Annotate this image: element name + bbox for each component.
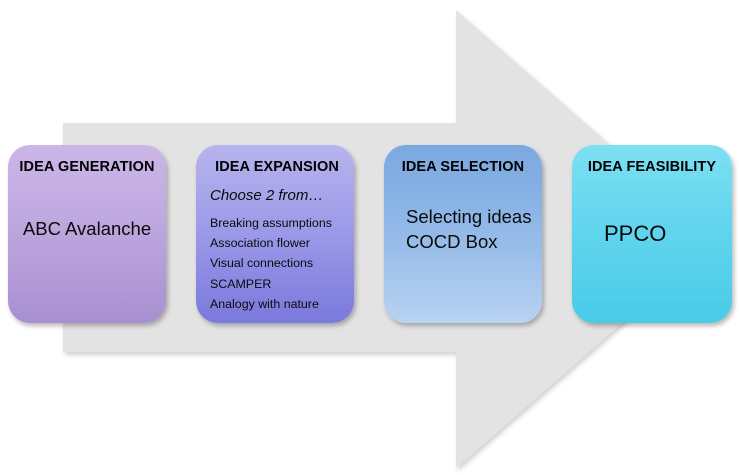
stage-title-idea-expansion: IDEA EXPANSION [210, 159, 344, 175]
stage-card-idea-generation[interactable]: IDEA GENERATION ABC Avalanche [8, 145, 166, 323]
list-item: SCAMPER [210, 274, 344, 294]
stage-title-idea-feasibility: IDEA FEASIBILITY [582, 159, 722, 175]
stage-main-text-idea-generation: ABC Avalanche [18, 217, 156, 242]
stage-main-line-2-idea-selection: COCD Box [406, 230, 532, 255]
list-item: Association flower [210, 233, 344, 253]
stage-card-idea-selection[interactable]: IDEA SELECTION Selecting ideas COCD Box [384, 145, 542, 323]
list-item: Analogy with nature [210, 294, 344, 314]
stage-main-line-1-idea-selection: Selecting ideas [406, 205, 532, 230]
stage-main-text-idea-feasibility: PPCO [604, 219, 722, 248]
stage-body-idea-feasibility: PPCO [582, 219, 722, 248]
stage-body-idea-expansion: Choose 2 from… Breaking assumptions Asso… [210, 187, 344, 314]
diagram-canvas: IDEA GENERATION ABC Avalanche IDEA EXPAN… [0, 0, 740, 475]
technique-list-idea-expansion: Breaking assumptions Association flower … [210, 213, 344, 314]
stage-title-idea-selection: IDEA SELECTION [394, 159, 532, 175]
stage-body-idea-generation: ABC Avalanche [18, 217, 156, 242]
stage-body-idea-selection: Selecting ideas COCD Box [394, 205, 532, 254]
list-item: Visual connections [210, 253, 344, 273]
stage-card-idea-feasibility[interactable]: IDEA FEASIBILITY PPCO [572, 145, 732, 323]
list-item: Breaking assumptions [210, 213, 344, 233]
stage-title-idea-generation: IDEA GENERATION [18, 159, 156, 175]
stage-card-idea-expansion[interactable]: IDEA EXPANSION Choose 2 from… Breaking a… [196, 145, 354, 323]
stage-lead-idea-expansion: Choose 2 from… [210, 187, 344, 204]
